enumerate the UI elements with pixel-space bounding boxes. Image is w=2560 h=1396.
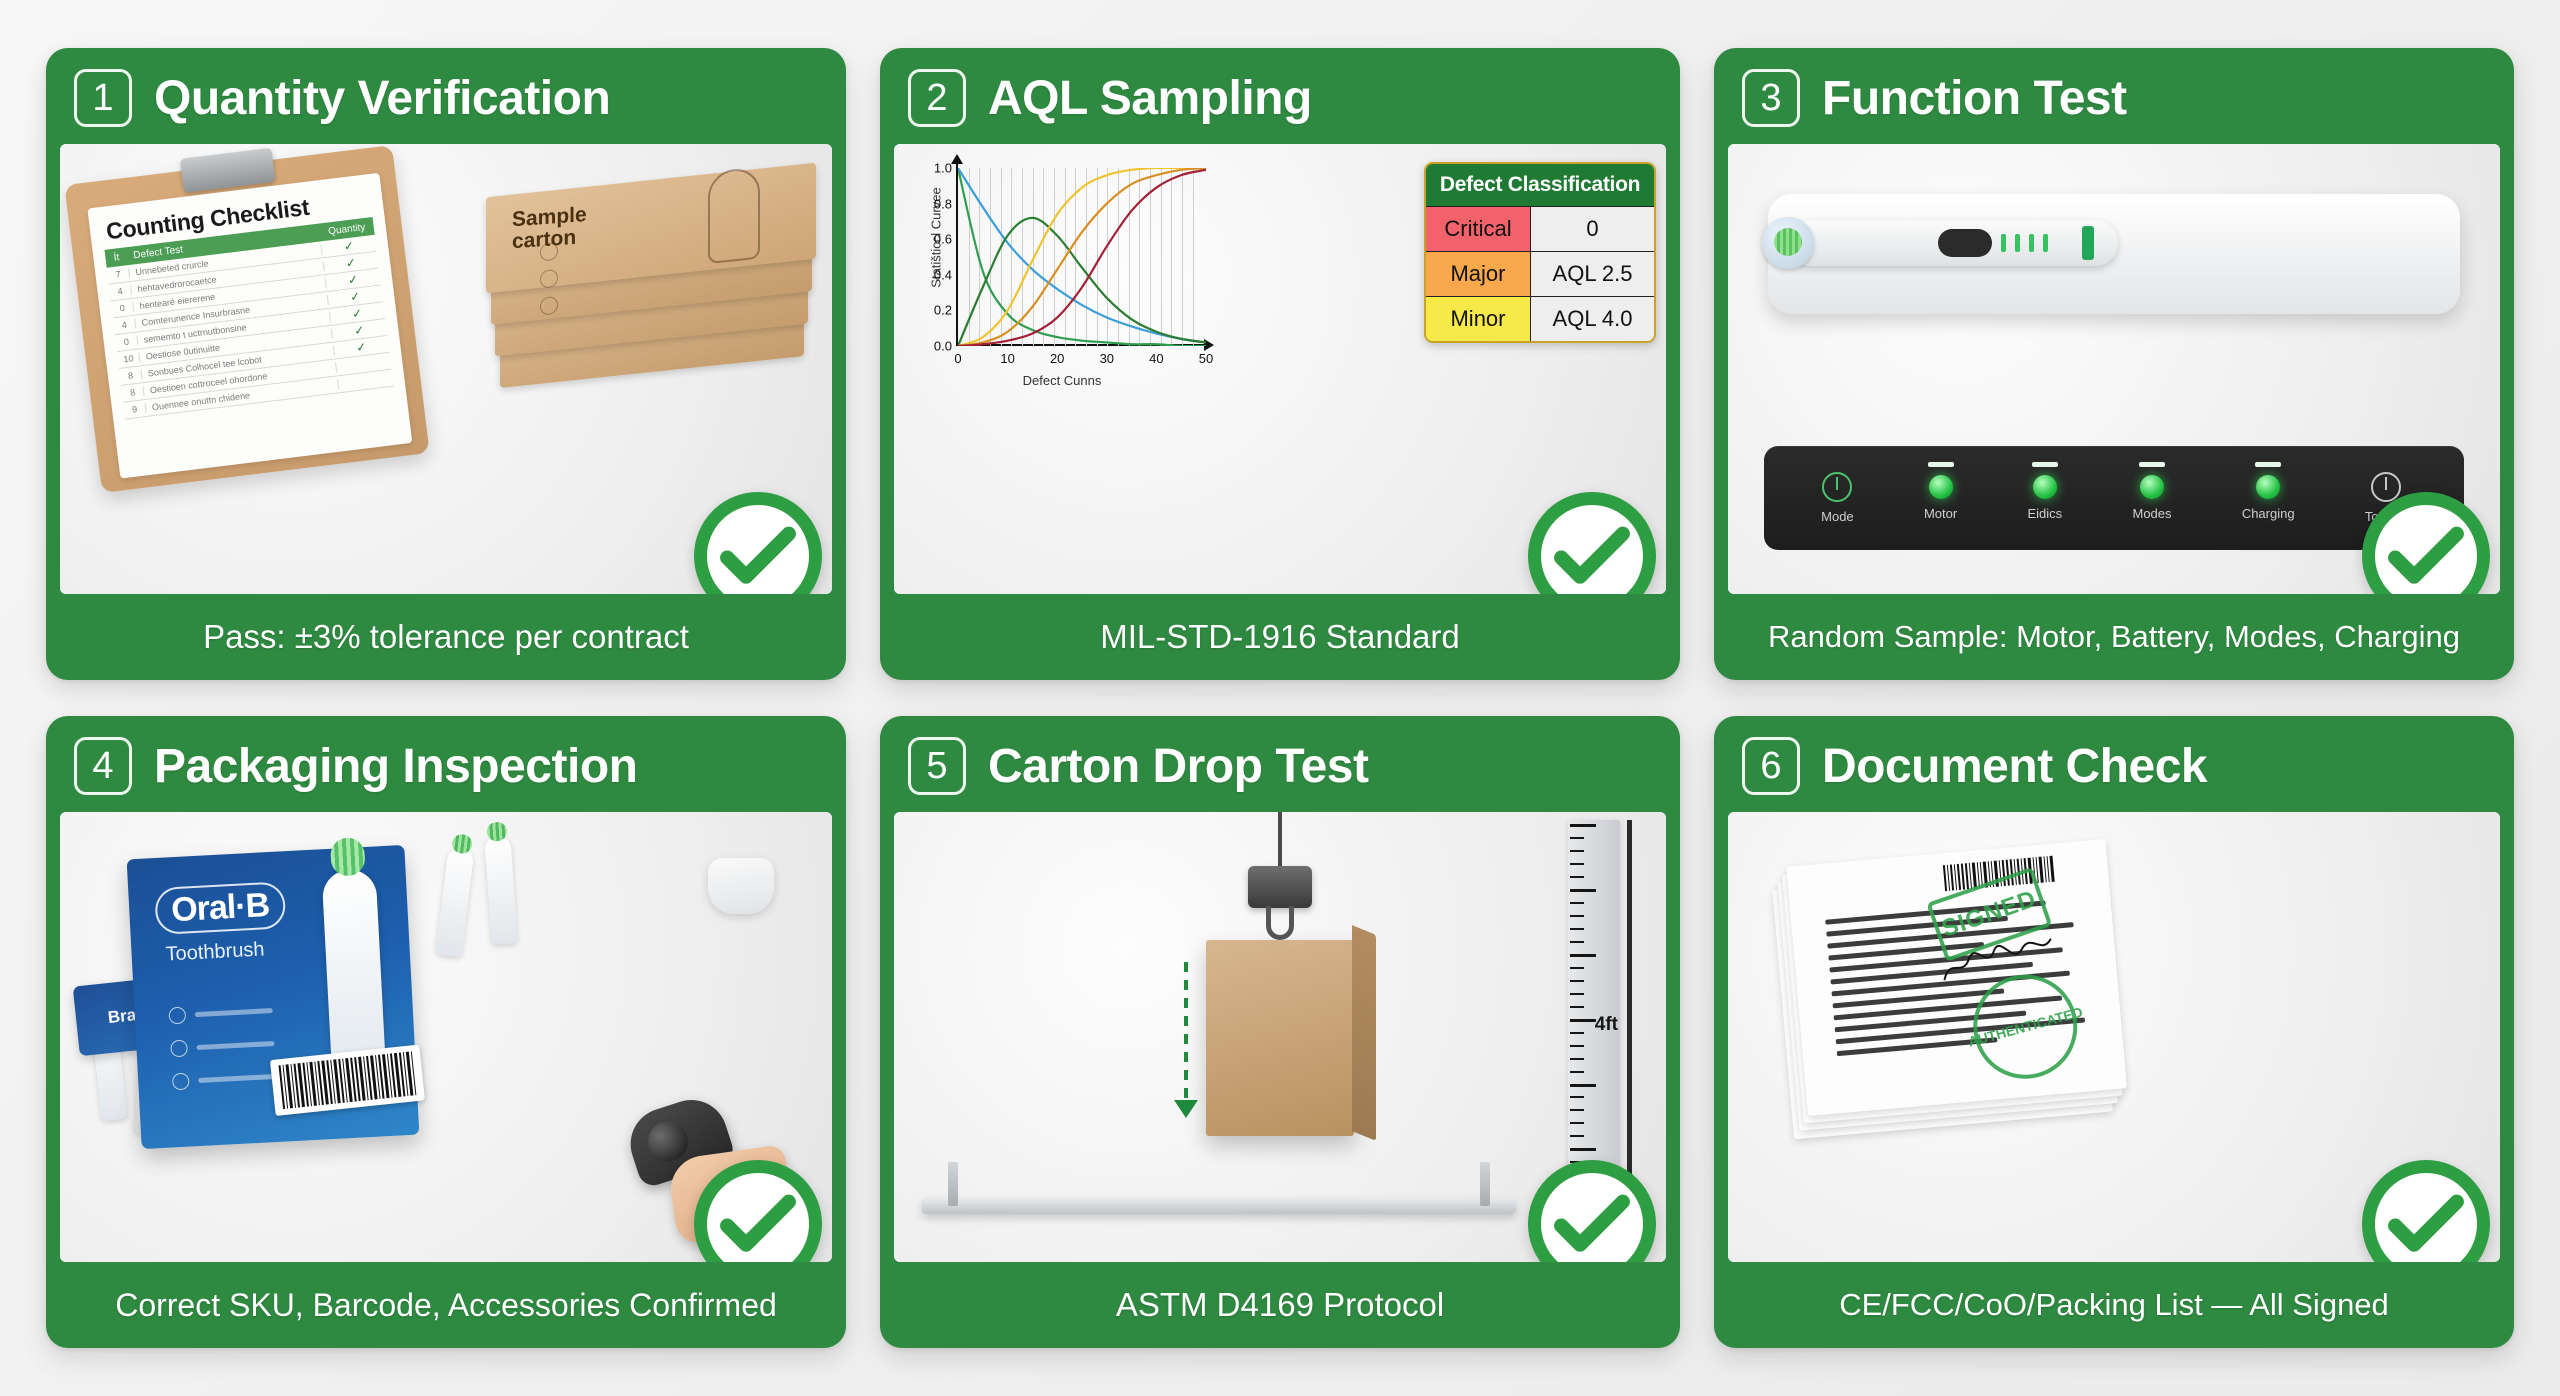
led-indicator-icon [2140, 475, 2164, 499]
check-icon [1551, 515, 1633, 594]
row-check [339, 378, 393, 385]
chart-x-tick: 50 [1199, 351, 1213, 366]
chart-series-exp-decay-blue [958, 168, 1206, 342]
card-header: 6 Document Check [1714, 716, 2514, 812]
defect-level: Major [1426, 252, 1530, 296]
scanner-lens-icon [643, 1116, 693, 1166]
ruler-tick [1570, 980, 1584, 982]
check-icon [2385, 1183, 2467, 1262]
inspection-checklist-infographic: 1 Quantity Verification Counting Checkli… [0, 0, 2560, 1396]
ruler-tick [1570, 954, 1596, 957]
brush-led-indicators [2001, 234, 2048, 252]
row-index: 10 [117, 352, 140, 365]
card-title: Function Test [1822, 71, 2127, 126]
chart-x-tick: 40 [1149, 351, 1163, 366]
footer-text: Random Sample: Motor, Battery, Modes, Ch… [1768, 619, 2460, 655]
col-index: İt [105, 251, 128, 265]
check-icon [2385, 515, 2467, 594]
panel-indicator: Charging [2242, 475, 2295, 521]
table-title: Defect Classification [1426, 164, 1654, 206]
chart-x-tick: 10 [1000, 351, 1014, 366]
power-icon [1822, 472, 1852, 502]
chart-x-axis-label: Defect Cunns [912, 373, 1212, 388]
chart-y-tick: 1.0 [934, 161, 952, 176]
ruler-tick [1570, 863, 1584, 865]
chart-y-tick: 0.4 [934, 267, 952, 282]
step-number-badge: 4 [74, 737, 132, 795]
toothbrush-outline-icon [708, 167, 760, 264]
card-footer: Pass: ±3% tolerance per contract [46, 594, 846, 680]
ruler-tick [1570, 1109, 1584, 1111]
ruler-tick [1570, 837, 1584, 839]
table-row: Major AQL 2.5 [1426, 251, 1654, 296]
chart-x-tick: 0 [954, 351, 961, 366]
ruler-tick [1570, 1032, 1584, 1034]
power-icon [2371, 472, 2401, 502]
ruler-tick [1570, 1148, 1596, 1151]
brush-green-stripe [2082, 226, 2094, 260]
impact-table-surface [922, 1198, 1516, 1214]
chart-y-tick: 0.8 [934, 196, 952, 211]
card-media-function-test: ModeMotorEidicsModesChargingTcorlan [1728, 144, 2500, 594]
defect-classification-table: Defect Classification Critical 0 Major A… [1424, 162, 1656, 343]
row-index: 8 [122, 386, 145, 399]
card-header: 3 Function Test [1714, 48, 2514, 144]
ruler-tick [1570, 876, 1584, 878]
panel-indicator-label: Motor [1924, 506, 1957, 521]
charging-base-illustration [708, 858, 774, 914]
check-icon [717, 1183, 799, 1262]
card-document-check[interactable]: 6 Document Check SIGNED AUTHENTICATED [1714, 716, 2514, 1348]
retail-box-illustration: Oral·B Toothbrush [127, 845, 420, 1149]
table-row: Minor AQL 4.0 [1426, 296, 1654, 341]
card-packaging-inspection[interactable]: 4 Packaging Inspection Braol B Oral·B To… [46, 716, 846, 1348]
row-index: 4 [109, 285, 132, 298]
card-title: Carton Drop Test [988, 739, 1368, 794]
card-media-documents: SIGNED AUTHENTICATED [1728, 812, 2500, 1262]
footer-text: Pass: ±3% tolerance per contract [203, 618, 689, 656]
defect-level: Critical [1426, 207, 1530, 251]
drop-test-carton [1206, 940, 1354, 1136]
panel-indicator-label: Eidics [2028, 506, 2063, 521]
ruler-tick [1570, 1096, 1584, 1098]
defect-value: 0 [1530, 207, 1654, 251]
card-function-test[interactable]: 3 Function Test ModeMotorEidicsModesChar… [1714, 48, 2514, 680]
card-title: Packaging Inspection [154, 739, 637, 794]
barcode-icon [270, 1045, 425, 1116]
ruler-tick [1570, 915, 1584, 917]
card-media-packaging: Braol B Oral·B Toothbrush [60, 812, 832, 1262]
panel-indicator-label: Modes [2132, 506, 2171, 521]
card-media-drop-test: 4ft [894, 812, 1666, 1262]
defect-value: AQL 4.0 [1530, 297, 1654, 341]
electric-toothbrush-illustration [1788, 220, 2118, 266]
chart-x-tick: 20 [1050, 351, 1064, 366]
ruler-tick [1570, 1135, 1584, 1137]
footer-text: ASTM D4169 Protocol [1116, 1286, 1444, 1324]
defect-level: Minor [1426, 297, 1530, 341]
card-footer: MIL-STD-1916 Standard [880, 594, 1680, 680]
row-index: 0 [111, 302, 134, 315]
box-feature-bullets [168, 1002, 276, 1090]
ruler-tick [1570, 1071, 1584, 1073]
ruler-tick [1570, 1058, 1584, 1060]
card-title: AQL Sampling [988, 71, 1312, 126]
chart-y-tick: 0.0 [934, 339, 952, 354]
carton-stack-illustration: Sample carton [486, 170, 816, 430]
led-indicator-icon [2033, 475, 2057, 499]
card-media-aql: Statišticcl Curvee 0.00.20.40.60.81.0 01… [894, 144, 1666, 594]
footer-text: CE/FCC/CoO/Packing List — All Signed [1839, 1287, 2389, 1323]
ruler-tick [1570, 993, 1584, 995]
led-indicator-icon [2256, 475, 2280, 499]
chart-plot-area [958, 168, 1206, 346]
card-footer: Correct SKU, Barcode, Accessories Confir… [46, 1262, 846, 1348]
footer-text: Correct SKU, Barcode, Accessories Confir… [115, 1287, 777, 1324]
card-header: 2 AQL Sampling [880, 48, 1680, 144]
ruler-tick [1570, 902, 1584, 904]
box-brand-label: Oral·B [154, 881, 286, 935]
row-index: 9 [124, 403, 147, 416]
step-number-badge: 5 [908, 737, 966, 795]
step-number-badge: 6 [1742, 737, 1800, 795]
hook-icon [1266, 906, 1294, 940]
hoist-cable [1278, 812, 1282, 870]
panel-indicator: Eidics [2028, 475, 2063, 521]
ruler-tick [1570, 824, 1596, 827]
ruler-tick [1570, 1006, 1584, 1008]
card-aql-sampling[interactable]: 2 AQL Sampling Statišticcl Curvee 0.00.2… [880, 48, 1680, 680]
ruler-tick [1570, 1019, 1596, 1022]
card-media-quantity: Counting Checklist İt Defect Test Quanti… [60, 144, 832, 594]
ruler-tick [1570, 928, 1584, 930]
drop-direction-arrow-icon [1184, 962, 1188, 1102]
box-subtitle-label: Toothbrush [165, 938, 265, 966]
chart-curves [958, 168, 1206, 346]
ruler-tick [1570, 850, 1584, 852]
ruler-tick [1570, 967, 1584, 969]
ruler-tick [1570, 1084, 1596, 1087]
card-quantity-verification[interactable]: 1 Quantity Verification Counting Checkli… [46, 48, 846, 680]
function-test-panel: ModeMotorEidicsModesChargingTcorlan [1764, 446, 2464, 550]
card-header: 1 Quantity Verification [46, 48, 846, 144]
card-title: Document Check [1822, 739, 2207, 794]
ruler-height-label: 4ft [1595, 1014, 1618, 1036]
row-index: 8 [120, 369, 143, 382]
card-header: 5 Carton Drop Test [880, 716, 1680, 812]
ruler-tick [1570, 1045, 1584, 1047]
ruler-tick [1570, 889, 1596, 892]
led-indicator-icon [1929, 475, 1953, 499]
row-check [337, 361, 391, 368]
card-footer: ASTM D4169 Protocol [880, 1262, 1680, 1348]
chart-x-tick: 30 [1100, 351, 1114, 366]
card-footer: Random Sample: Motor, Battery, Modes, Ch… [1714, 594, 2514, 680]
ruler-tick [1570, 1122, 1584, 1124]
checklist-table: İt Defect Test Quantity 7Unnebeted crurc… [93, 215, 406, 421]
panel-indicator-label: Charging [2242, 506, 2295, 521]
ruler-tick [1570, 941, 1584, 943]
panel-indicator: Modes [2132, 475, 2171, 521]
defect-value: AQL 2.5 [1530, 252, 1654, 296]
panel-indicator-label: Mode [1821, 509, 1854, 524]
carton-spec-icons [540, 242, 558, 316]
panel-indicator: Motor [1924, 475, 1957, 521]
chart-y-tick: 0.2 [934, 303, 952, 318]
clipboard-illustration: Counting Checklist İt Defect Test Quanti… [64, 145, 429, 493]
hoist-block-icon [1248, 866, 1312, 908]
brush-power-button [1938, 229, 1992, 257]
card-footer: CE/FCC/CoO/Packing List — All Signed [1714, 1262, 2514, 1348]
row-index: 0 [115, 336, 138, 349]
statistical-curves-chart: Statišticcl Curvee 0.00.20.40.60.81.0 01… [912, 158, 1212, 388]
row-index: 4 [113, 319, 136, 332]
card-title: Quantity Verification [154, 71, 610, 126]
brush-head-icon [1762, 217, 1814, 269]
panel-indicator: Mode [1821, 472, 1854, 524]
card-carton-drop-test[interactable]: 5 Carton Drop Test 4ft [880, 716, 1680, 1348]
card-header: 4 Packaging Inspection [46, 716, 846, 812]
step-number-badge: 3 [1742, 69, 1800, 127]
check-icon [717, 515, 799, 594]
chart-y-tick: 0.6 [934, 232, 952, 247]
step-number-badge: 2 [908, 69, 966, 127]
check-icon [1551, 1183, 1633, 1262]
footer-text: MIL-STD-1916 Standard [1100, 618, 1460, 656]
step-number-badge: 1 [74, 69, 132, 127]
table-row: Critical 0 [1426, 206, 1654, 251]
document-stack-illustration: SIGNED AUTHENTICATED [1786, 838, 2139, 1146]
row-index: 7 [107, 268, 130, 281]
